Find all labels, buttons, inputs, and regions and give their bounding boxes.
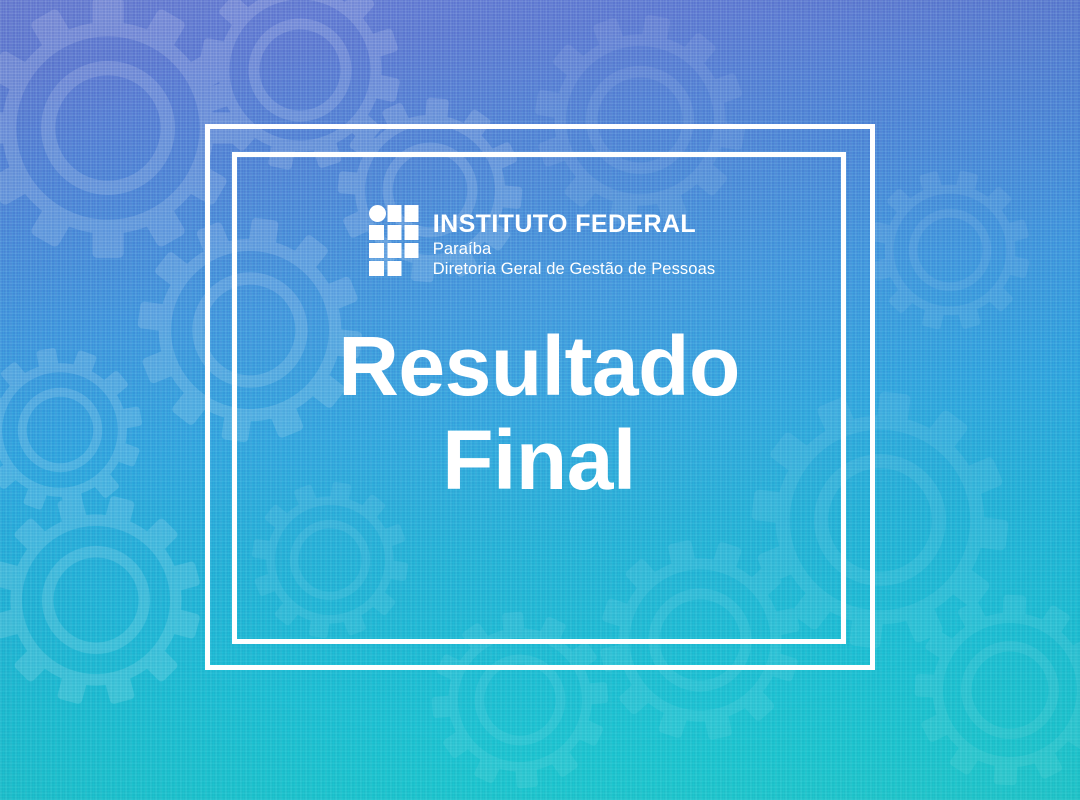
instituto-federal-grid-icon <box>369 205 419 279</box>
banner-content: INSTITUTO FEDERAL Paraíba Diretoria Gera… <box>232 152 846 644</box>
institution-name: INSTITUTO FEDERAL <box>433 212 715 237</box>
institution-logo: INSTITUTO FEDERAL Paraíba Diretoria Gera… <box>369 204 715 279</box>
headline: Resultado Final <box>232 319 846 507</box>
headline-line-1: Resultado <box>232 319 846 413</box>
institution-logo-text: INSTITUTO FEDERAL Paraíba Diretoria Gera… <box>433 204 715 277</box>
headline-line-2: Final <box>232 413 846 507</box>
institution-department: Diretoria Geral de Gestão de Pessoas <box>433 261 715 278</box>
announcement-banner: INSTITUTO FEDERAL Paraíba Diretoria Gera… <box>0 0 1080 800</box>
institution-campus: Paraíba <box>433 241 715 258</box>
